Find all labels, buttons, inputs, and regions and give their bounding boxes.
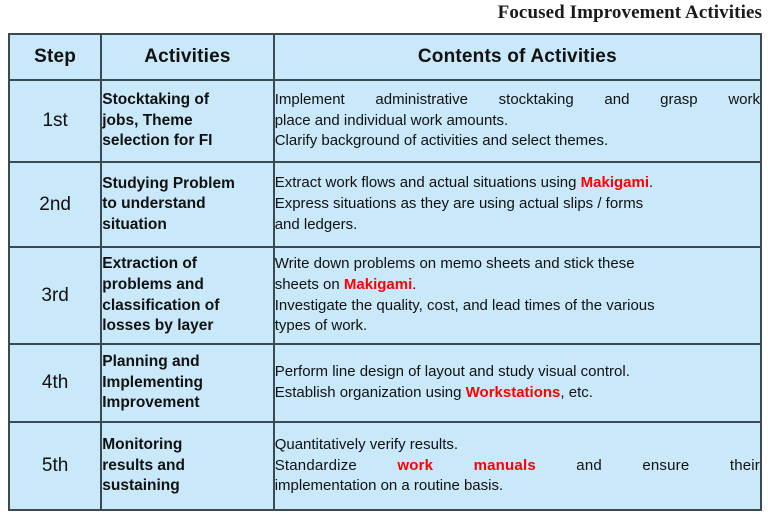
cell-step: 1st (9, 80, 101, 162)
cell-contents: Write down problems on memo sheets and s… (274, 247, 761, 344)
activity-line: jobs, Theme (102, 111, 272, 132)
focused-improvement-table: Step Activities Contents of Activities 1… (8, 33, 762, 511)
content-line: Investigate the quality, cost, and lead … (275, 296, 760, 317)
table-row: 1st Stocktaking of jobs, Theme selection… (9, 80, 761, 162)
activity-line: problems and (102, 275, 272, 296)
activity-line: Stocktaking of (102, 90, 272, 111)
table-row: 2nd Studying Problem to understand situa… (9, 162, 761, 247)
column-header-step: Step (9, 34, 101, 80)
content-line: sheets on Makigami. (275, 275, 760, 296)
content-line: Establish organization using Workstation… (275, 383, 760, 404)
activity-line: situation (102, 215, 272, 236)
content-line: Quantitatively verify results. (275, 435, 760, 456)
content-line: Standardize work manuals and ensure thei… (275, 456, 760, 477)
cell-activity: Studying Problem to understand situation (101, 162, 273, 247)
content-line: place and individual work amounts. (275, 111, 760, 132)
activity-line: classification of (102, 296, 272, 317)
activity-line: losses by layer (102, 316, 272, 337)
table-body: 1st Stocktaking of jobs, Theme selection… (9, 80, 761, 510)
cell-activity: Extraction of problems and classificatio… (101, 247, 273, 344)
content-text: Standardize (275, 457, 398, 474)
table-header-row: Step Activities Contents of Activities (9, 34, 761, 80)
content-text-tail: and ensure their (536, 457, 760, 474)
table-row: 4th Planning and Implementing Improvemen… (9, 344, 761, 422)
content-line: Implement administrative stocktaking and… (275, 90, 760, 111)
content-line: and ledgers. (275, 215, 760, 236)
activity-line: results and (102, 456, 272, 477)
cell-activity: Monitoring results and sustaining (101, 422, 273, 510)
page-root: Focused Improvement Activities Step Acti… (0, 0, 768, 524)
content-text-tail: . (649, 174, 653, 191)
cell-activity: Stocktaking of jobs, Theme selection for… (101, 80, 273, 162)
content-text-tail: . (412, 276, 416, 293)
content-line: Express situations as they are using act… (275, 194, 760, 215)
table-row: 3rd Extraction of problems and classific… (9, 247, 761, 344)
cell-step: 5th (9, 422, 101, 510)
activity-line: sustaining (102, 476, 272, 497)
cell-step: 2nd (9, 162, 101, 247)
activity-line: Improvement (102, 393, 272, 414)
activity-line: Extraction of (102, 254, 272, 275)
content-line: implementation on a routine basis. (275, 476, 760, 497)
cell-contents: Perform line design of layout and study … (274, 344, 761, 422)
page-title: Focused Improvement Activities (498, 2, 762, 24)
content-text: Extract work flows and actual situations… (275, 174, 581, 191)
highlight-term: Workstations (466, 384, 561, 401)
activity-line: Planning and (102, 352, 272, 373)
cell-contents: Implement administrative stocktaking and… (274, 80, 761, 162)
activity-line: to understand (102, 194, 272, 215)
content-line: types of work. (275, 316, 760, 337)
highlight-term: Makigami (344, 276, 412, 293)
cell-step: 3rd (9, 247, 101, 344)
highlight-term: work manuals (397, 457, 536, 474)
column-header-contents: Contents of Activities (274, 34, 761, 80)
content-line: Clarify background of activities and sel… (275, 131, 760, 152)
content-text-tail: , etc. (560, 384, 593, 401)
table-header: Step Activities Contents of Activities (9, 34, 761, 80)
column-header-activities: Activities (101, 34, 273, 80)
activity-line: selection for FI (102, 131, 272, 152)
cell-step: 4th (9, 344, 101, 422)
content-text: sheets on (275, 276, 344, 293)
content-line: Perform line design of layout and study … (275, 362, 760, 383)
highlight-term: Makigami (581, 174, 649, 191)
table-row: 5th Monitoring results and sustaining Qu… (9, 422, 761, 510)
cell-contents: Quantitatively verify results. Standardi… (274, 422, 761, 510)
content-line: Write down problems on memo sheets and s… (275, 254, 760, 275)
cell-activity: Planning and Implementing Improvement (101, 344, 273, 422)
activity-line: Studying Problem (102, 174, 272, 195)
content-text: Establish organization using (275, 384, 466, 401)
cell-contents: Extract work flows and actual situations… (274, 162, 761, 247)
focused-improvement-table-wrapper: Step Activities Contents of Activities 1… (8, 33, 762, 511)
activity-line: Monitoring (102, 435, 272, 456)
content-line: Extract work flows and actual situations… (275, 173, 760, 194)
activity-line: Implementing (102, 373, 272, 394)
